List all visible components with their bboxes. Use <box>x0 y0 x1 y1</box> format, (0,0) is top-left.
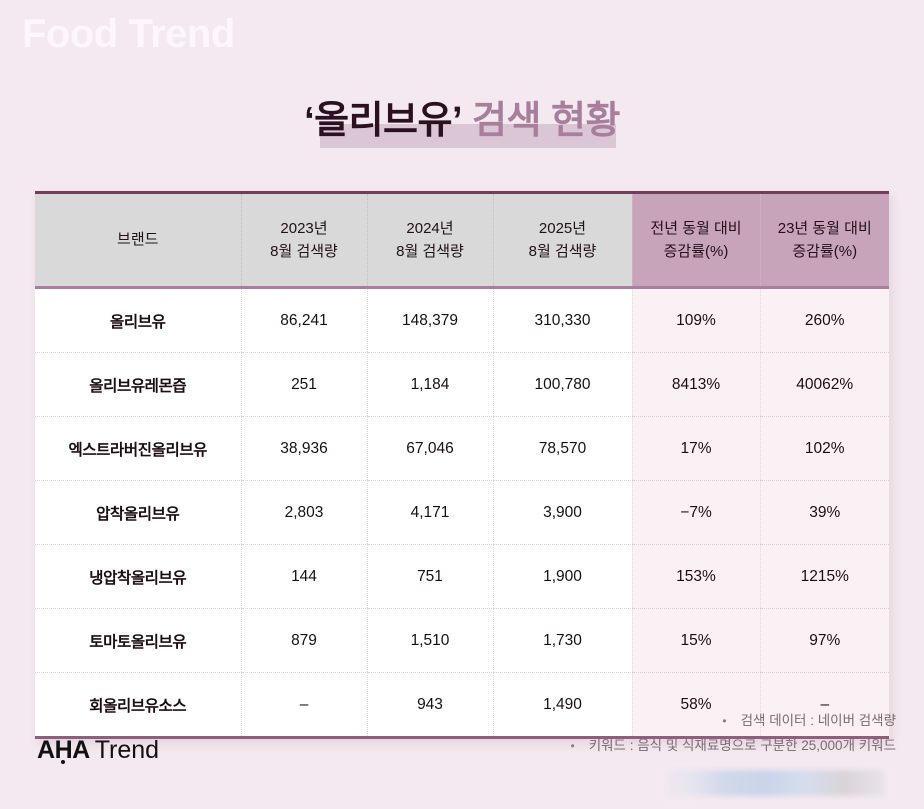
search-volume-table-container: 브랜드 2023년 8월 검색량 2024년 8월 검색량 2025년 8월 검… <box>35 191 889 739</box>
footer-note-text: 키워드 : 음식 및 식재료명으로 구분한 25,000개 키워드 <box>589 738 896 753</box>
bullet-icon: • <box>571 740 575 753</box>
table-row: 엑스트라버진올리브유 38,936 67,046 78,570 17% 102% <box>35 417 889 481</box>
cell-y2025: 100,780 <box>493 353 632 417</box>
eyebrow-label: Food Trend <box>22 12 235 56</box>
cell-brand: 올리브유레몬즙 <box>35 353 241 417</box>
cell-y2024: 1,184 <box>367 353 493 417</box>
search-volume-table: 브랜드 2023년 8월 검색량 2024년 8월 검색량 2025년 8월 검… <box>35 191 889 736</box>
cell-y2025: 1,730 <box>493 609 632 673</box>
cell-y2025: 3,900 <box>493 481 632 545</box>
brand-logo: AHATrend <box>37 738 159 763</box>
cell-vs23: 97% <box>760 609 889 673</box>
cell-vs23: 39% <box>760 481 889 545</box>
headline-container: ‘올리브유’검색 현황 <box>0 92 924 162</box>
column-header-line1: 브랜드 <box>39 228 237 251</box>
cell-yoy: 15% <box>632 609 760 673</box>
table-row: 올리브유 86,241 148,379 310,330 109% 260% <box>35 288 889 353</box>
cell-yoy: 109% <box>632 288 760 353</box>
cell-brand: 냉압착올리브유 <box>35 545 241 609</box>
footer-note-text: 검색 데이터 : 네이버 검색량 <box>741 713 896 728</box>
cell-yoy: 153% <box>632 545 760 609</box>
cell-y2023: 2,803 <box>241 481 367 545</box>
cell-y2024: 1,510 <box>367 609 493 673</box>
column-header-y2023: 2023년 8월 검색량 <box>241 193 367 288</box>
cell-y2024: 751 <box>367 545 493 609</box>
column-header-line2: 증감률(%) <box>765 240 886 263</box>
cell-y2024: 67,046 <box>367 417 493 481</box>
column-header-line2: 8월 검색량 <box>372 240 489 263</box>
column-header-line1: 2023년 <box>246 217 363 240</box>
cell-brand: 회올리브유소스 <box>35 673 241 737</box>
column-header-line1: 2025년 <box>498 217 628 240</box>
footer-notes: •검색 데이터 : 네이버 검색량 •키워드 : 음식 및 식재료명으로 구분한… <box>376 714 896 764</box>
cell-yoy: −7% <box>632 481 760 545</box>
column-header-brand: 브랜드 <box>35 193 241 288</box>
logo-bang-glyph: H <box>55 738 73 763</box>
table-row: 올리브유레몬즙 251 1,184 100,780 8413% 40062% <box>35 353 889 417</box>
column-header-line1: 2024년 <box>372 217 489 240</box>
column-header-line2: 8월 검색량 <box>246 240 363 263</box>
cell-y2023: – <box>241 673 367 737</box>
title-keyword: ‘올리브유’ <box>304 100 462 142</box>
table-header-row: 브랜드 2023년 8월 검색량 2024년 8월 검색량 2025년 8월 검… <box>35 193 889 288</box>
column-header-line2: 증감률(%) <box>637 240 756 263</box>
footer-note-item: •검색 데이터 : 네이버 검색량 <box>376 714 896 729</box>
cell-y2025: 1,900 <box>493 545 632 609</box>
bullet-icon: • <box>722 715 726 728</box>
cell-y2023: 144 <box>241 545 367 609</box>
cell-vs23: 40062% <box>760 353 889 417</box>
cell-brand: 엑스트라버진올리브유 <box>35 417 241 481</box>
cell-y2023: 251 <box>241 353 367 417</box>
cell-y2023: 38,936 <box>241 417 367 481</box>
table-row: 압착올리브유 2,803 4,171 3,900 −7% 39% <box>35 481 889 545</box>
table-row: 냉압착올리브유 144 751 1,900 153% 1215% <box>35 545 889 609</box>
cell-y2023: 879 <box>241 609 367 673</box>
logo-word: Trend <box>95 736 159 764</box>
cell-y2024: 148,379 <box>367 288 493 353</box>
column-header-line1: 전년 동월 대비 <box>637 217 756 240</box>
page-title: ‘올리브유’검색 현황 <box>304 92 620 150</box>
cell-vs23: 102% <box>760 417 889 481</box>
column-header-yoy-growth: 전년 동월 대비 증감률(%) <box>632 193 760 288</box>
cell-vs23: 1215% <box>760 545 889 609</box>
cell-brand: 압착올리브유 <box>35 481 241 545</box>
footer-note-item: •키워드 : 음식 및 식재료명으로 구분한 25,000개 키워드 <box>376 739 896 754</box>
cell-y2024: 4,171 <box>367 481 493 545</box>
column-header-y2024: 2024년 8월 검색량 <box>367 193 493 288</box>
cell-vs23: 260% <box>760 288 889 353</box>
cell-yoy: 17% <box>632 417 760 481</box>
column-header-line2: 8월 검색량 <box>498 240 628 263</box>
table-row: 토마토올리브유 879 1,510 1,730 15% 97% <box>35 609 889 673</box>
cell-yoy: 8413% <box>632 353 760 417</box>
logo-mark: AHA <box>37 736 90 764</box>
cell-y2025: 310,330 <box>493 288 632 353</box>
redacted-bar <box>668 770 884 796</box>
column-header-y2025: 2025년 8월 검색량 <box>493 193 632 288</box>
cell-y2023: 86,241 <box>241 288 367 353</box>
column-header-vs23-growth: 23년 동월 대비 증감률(%) <box>760 193 889 288</box>
title-suffix: 검색 현황 <box>472 100 620 142</box>
cell-brand: 올리브유 <box>35 288 241 353</box>
cell-brand: 토마토올리브유 <box>35 609 241 673</box>
cell-y2025: 78,570 <box>493 417 632 481</box>
column-header-line1: 23년 동월 대비 <box>765 217 886 240</box>
